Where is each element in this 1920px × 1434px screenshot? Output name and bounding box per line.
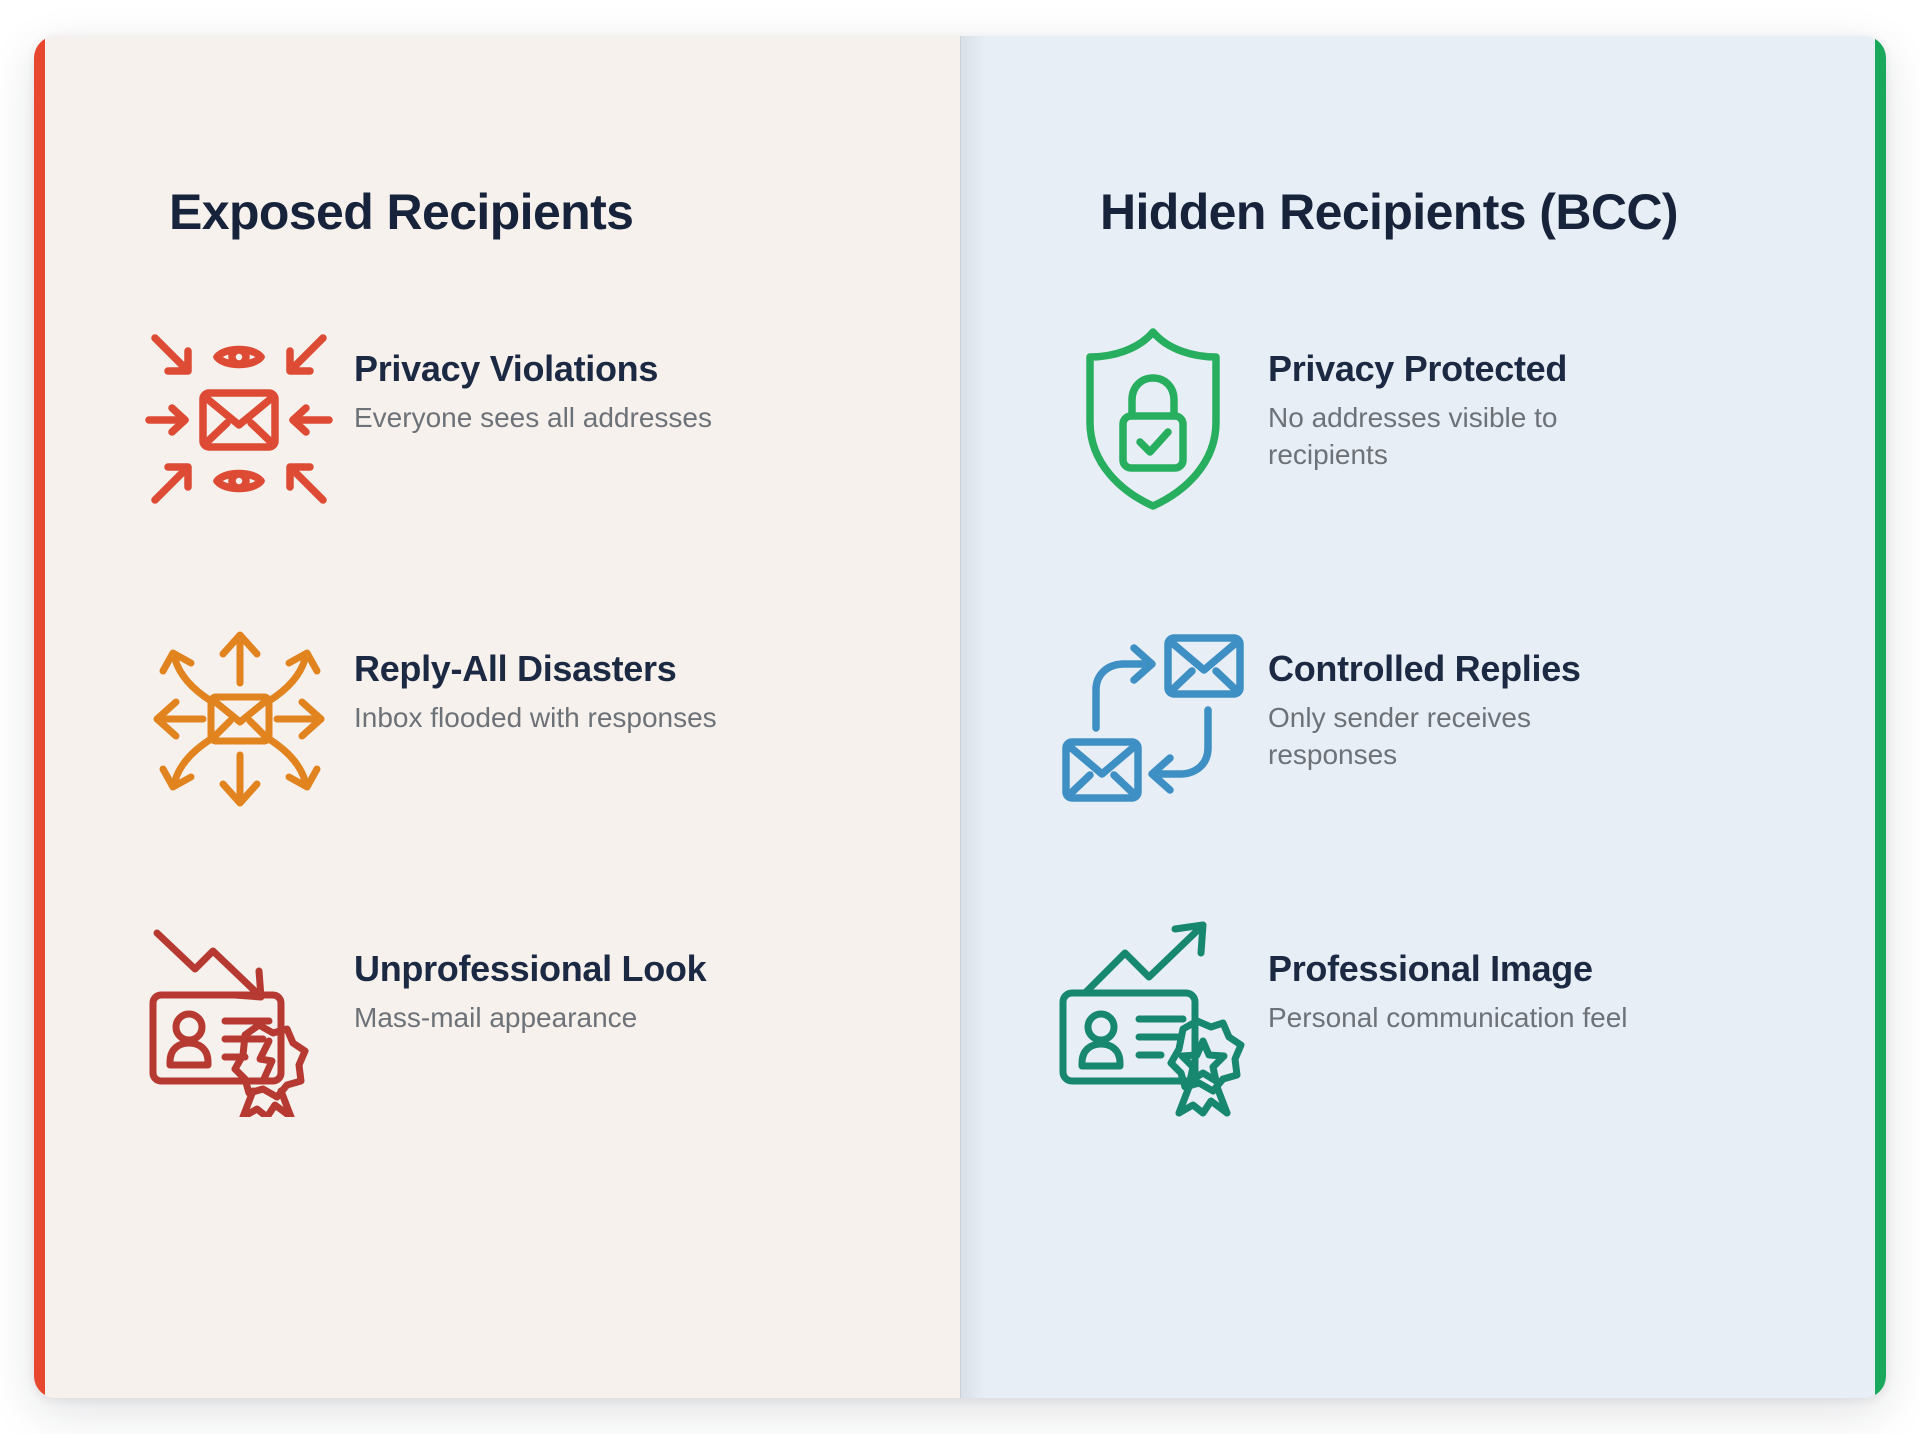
envelope-watched-icon [124, 321, 354, 517]
feature-text: Privacy Protected No addresses visible t… [1268, 321, 1648, 475]
panel-divider [960, 36, 961, 1398]
feature-description: Everyone sees all addresses [354, 400, 712, 437]
feature-privacy-protected: Privacy Protected No addresses visible t… [1038, 321, 1846, 535]
right-panel-title: Hidden Recipients (BCC) [1100, 186, 1846, 239]
feature-text: Professional Image Personal communicatio… [1268, 921, 1628, 1038]
feature-description: Only sender receives responses [1268, 700, 1648, 774]
feature-reply-all-disasters: Reply-All Disasters Inbox flooded with r… [124, 621, 900, 835]
feature-controlled-replies: Controlled Replies Only sender receives … [1038, 621, 1846, 835]
feature-title: Privacy Violations [354, 347, 712, 391]
feature-text: Controlled Replies Only sender receives … [1268, 621, 1648, 775]
screenshot-root: Exposed Recipients [0, 0, 1920, 1434]
feature-text: Unprofessional Look Mass-mail appearance [354, 921, 706, 1038]
panel-exposed-recipients: Exposed Recipients [34, 36, 960, 1398]
panel-hidden-recipients: Hidden Recipients (BCC) [960, 36, 1886, 1398]
envelopes-reply-arrows-icon [1038, 621, 1268, 817]
feature-description: Mass-mail appearance [354, 1000, 706, 1037]
feature-unprofessional-look: Unprofessional Look Mass-mail appearance [124, 921, 900, 1135]
envelope-reply-all-burst-icon [124, 621, 354, 817]
feature-title: Reply-All Disasters [354, 647, 717, 691]
shield-lock-check-icon [1038, 321, 1268, 517]
feature-title: Privacy Protected [1268, 347, 1648, 391]
feature-text: Reply-All Disasters Inbox flooded with r… [354, 621, 717, 738]
feature-title: Professional Image [1268, 947, 1628, 991]
id-card-declining-broken-badge-icon [124, 921, 354, 1117]
feature-privacy-violations: Privacy Violations Everyone sees all add… [124, 321, 900, 535]
comparison-card: Exposed Recipients [34, 36, 1886, 1398]
left-panel-title: Exposed Recipients [169, 186, 900, 239]
feature-professional-image: Professional Image Personal communicatio… [1038, 921, 1846, 1135]
id-card-rising-award-icon [1038, 921, 1268, 1117]
left-feature-list: Privacy Violations Everyone sees all add… [124, 321, 900, 1135]
feature-title: Unprofessional Look [354, 947, 706, 991]
right-feature-list: Privacy Protected No addresses visible t… [1038, 321, 1846, 1135]
feature-title: Controlled Replies [1268, 647, 1648, 691]
feature-description: No addresses visible to recipients [1268, 400, 1648, 474]
feature-text: Privacy Violations Everyone sees all add… [354, 321, 712, 438]
feature-description: Personal communication feel [1268, 1000, 1628, 1037]
feature-description: Inbox flooded with responses [354, 700, 717, 737]
